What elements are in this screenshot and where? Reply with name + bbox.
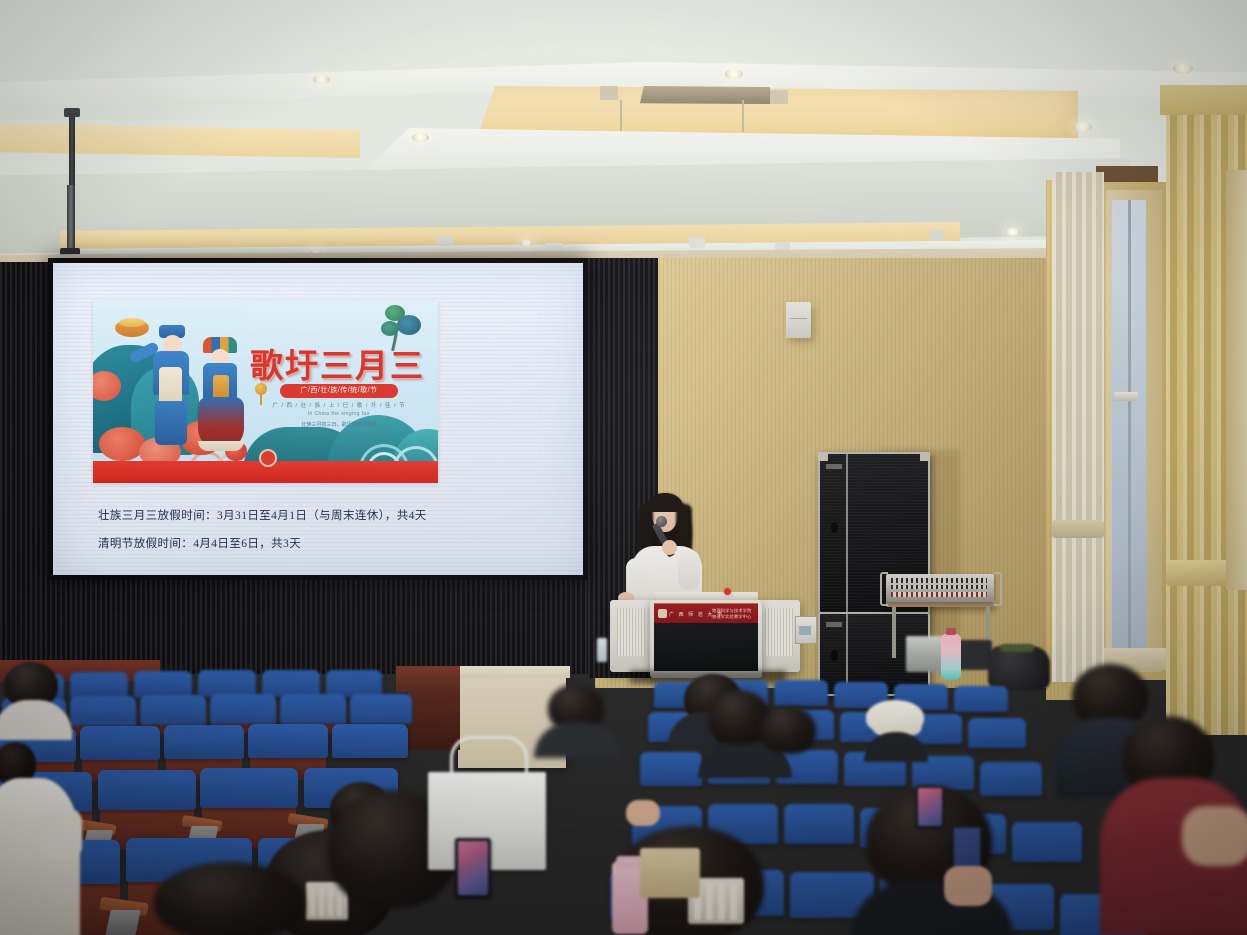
curtain-sheer-left	[1052, 172, 1104, 682]
audience-member-cap	[866, 700, 926, 760]
podium-vent-left	[617, 608, 645, 656]
ceiling-hanger-rod-2	[742, 100, 744, 132]
phone-screen	[458, 841, 488, 895]
speaker-port-bottom	[831, 650, 838, 661]
banner-rule	[289, 432, 389, 433]
banner-figure-man-legs	[155, 401, 187, 445]
banner-subtitle-english: In China the singing fair	[268, 411, 410, 417]
banner-red-medallion	[259, 449, 277, 467]
spotlight-clamp	[64, 108, 80, 117]
seat[interactable]	[332, 724, 408, 758]
banner-ball-tassel	[260, 393, 262, 405]
downlight-3	[1173, 63, 1193, 74]
slide-text-line-2: 清明节放假时间：4月4日至6日，共3天	[98, 535, 301, 551]
curtain-valance-right	[1160, 85, 1247, 115]
seat[interactable]	[210, 694, 276, 724]
curtain-tieback-left	[1052, 520, 1104, 538]
mixer-rack-handle-right	[994, 572, 1002, 606]
ceiling-vent	[640, 86, 770, 104]
snack-box	[640, 848, 700, 898]
slide-text-line-1: 壮族三月三放假时间：3月31日至4月1日（与周末连休），共4天	[98, 507, 427, 523]
hand-holding-phone	[944, 866, 992, 906]
slide-content: 歌圩三月三 广/西/壮/族/传/统/歌/节 广 / 西 / 壮 / 族 / 上 …	[53, 263, 583, 575]
speaker-label-top	[826, 464, 842, 469]
speaker-label-bottom	[826, 622, 842, 627]
banner-title: 歌圩三月三	[245, 339, 430, 387]
seat[interactable]	[280, 694, 346, 724]
window-transom-latch	[1114, 392, 1138, 401]
podium-banner-line-1: 物理科学与技术学院	[712, 608, 752, 613]
bag-strap	[1000, 644, 1034, 652]
slide-banner-image: 歌圩三月三 广/西/壮/族/传/统/歌/节 广 / 西 / 壮 / 族 / 上 …	[93, 301, 438, 483]
hair-clip-tooth	[718, 882, 725, 920]
ceiling-vent-bracket-right	[770, 90, 788, 104]
speaker-port-top	[831, 522, 838, 533]
seat[interactable]	[98, 770, 196, 810]
banner-flower-2	[99, 427, 145, 461]
mixer-fader-row	[891, 592, 987, 597]
seat[interactable]	[262, 670, 320, 697]
audio-mixer[interactable]	[886, 574, 994, 602]
seat[interactable]	[784, 804, 854, 844]
mixer-knob-row-1	[891, 578, 987, 583]
seat[interactable]	[80, 726, 160, 760]
downlight-4	[412, 133, 429, 142]
speaker-divider-top	[846, 454, 848, 612]
presenter-hand-right	[662, 540, 677, 555]
speaker-corner-tl	[818, 452, 828, 461]
banner-tree-cluster-2	[397, 315, 421, 335]
mixer-table-leg-left	[892, 606, 896, 658]
phone[interactable]	[916, 786, 944, 828]
wall-speaker-seam	[790, 318, 807, 319]
window-right-sliver	[1226, 170, 1247, 590]
podium-indicator-light	[724, 588, 731, 595]
downlight-1	[313, 75, 330, 84]
phone[interactable]	[455, 838, 491, 898]
wall-plate-label	[799, 626, 811, 635]
seat[interactable]	[198, 670, 256, 697]
podium-vent-right	[765, 608, 793, 656]
banner-subtitle-spaced: 广 / 西 / 壮 / 族 / 上 / 巳 / 歌 / 圩 / 佳 / 节	[268, 401, 410, 409]
audience-member	[0, 742, 86, 935]
seat[interactable]	[350, 694, 412, 724]
track-light-5	[930, 230, 944, 240]
hair-clip-tooth	[319, 884, 324, 916]
mixer-knob-row-2	[891, 585, 987, 589]
hair-clip-tooth	[706, 882, 713, 920]
wall-speaker	[786, 302, 811, 338]
seat[interactable]	[70, 696, 136, 726]
window-mullion-vertical	[1128, 200, 1131, 662]
seat[interactable]	[200, 768, 298, 808]
spotlight-pole-lower	[67, 185, 75, 257]
microphone-head	[656, 516, 667, 527]
podium-front-panel	[654, 623, 758, 671]
university-seal	[658, 609, 667, 618]
banner-subtitle-small: 壮族三月初三日，歌圩盛时寻歌缘	[268, 421, 410, 428]
seat[interactable]	[140, 695, 206, 725]
hand	[626, 800, 660, 826]
podium-banner-line-2: 物理学实验教学中心	[712, 614, 752, 619]
track-light-1	[437, 236, 453, 246]
banner-pill-subtitle: 广/西/壮/族/传/统/歌/节	[280, 384, 398, 398]
audience-arm	[1182, 806, 1247, 866]
water-bottle-cap	[946, 628, 956, 635]
downlight-6	[1005, 228, 1020, 236]
presenter-arm-right	[678, 550, 700, 590]
podium-banner: 广 西 师 范 大 学 物理科学与技术学院 物理学实验教学中心	[654, 603, 758, 623]
downlight-7	[520, 240, 533, 247]
phone-screen	[918, 788, 942, 826]
ceiling-vent-bracket-left	[600, 86, 618, 100]
audience-head	[154, 862, 304, 935]
audience-head	[760, 706, 816, 754]
ceiling-hanger-rod-1	[620, 100, 622, 132]
hair-clip-tooth	[730, 884, 737, 920]
speaker-corner-tr	[920, 452, 930, 461]
seat[interactable]	[326, 670, 382, 697]
downlight-5	[1073, 122, 1092, 132]
water-bottle-floor	[597, 638, 607, 662]
seat[interactable]	[248, 724, 328, 758]
projection-screen: 歌圩三月三 广/西/壮/族/传/统/歌/节 广 / 西 / 壮 / 族 / 上 …	[48, 258, 588, 580]
banner-figure-woman-hem	[198, 441, 244, 451]
track-light-3	[689, 237, 705, 248]
mixer-rack-handle	[880, 572, 888, 606]
seat[interactable]	[164, 725, 244, 759]
banner-drum-tray-top	[119, 318, 145, 327]
audience-shoulders	[864, 732, 928, 762]
hair-clip-tooth	[310, 886, 315, 916]
armrest-bracket	[105, 910, 141, 935]
downlight-2	[725, 69, 743, 79]
lecture-hall-photo: 歌圩三月三 广/西/壮/族/传/统/歌/节 广 / 西 / 壮 / 族 / 上 …	[0, 0, 1247, 935]
audience-member	[154, 862, 304, 935]
audience-arm	[38, 808, 82, 860]
